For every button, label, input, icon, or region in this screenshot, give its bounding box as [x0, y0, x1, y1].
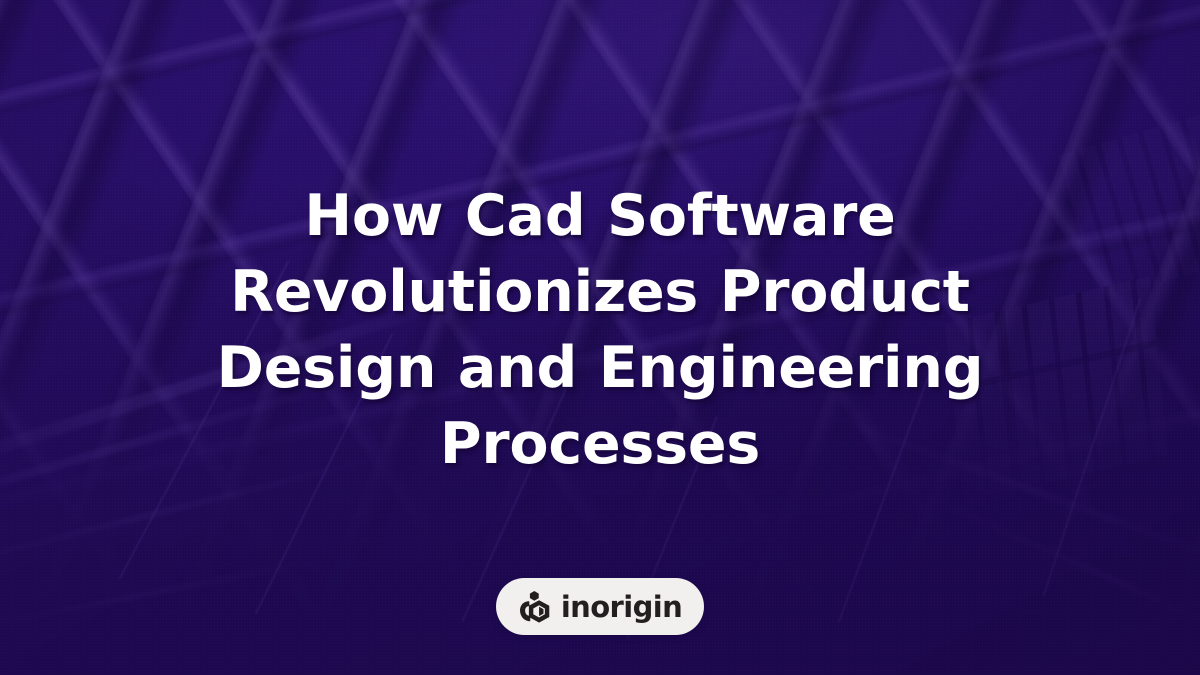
headline-line-3: Design and Engineering — [80, 330, 1120, 406]
hero-banner: How Cad Software Revolutionizes Product … — [0, 0, 1200, 675]
brand-logo[interactable]: inorigin — [496, 578, 704, 635]
inorigin-hexagon-cube-icon — [518, 590, 552, 624]
headline-line-2: Revolutionizes Product — [80, 254, 1120, 330]
page-title: How Cad Software Revolutionizes Product … — [0, 178, 1200, 482]
headline-line-1: How Cad Software — [80, 178, 1120, 254]
headline-line-4: Processes — [80, 406, 1120, 482]
logo-wordmark: inorigin — [561, 593, 682, 622]
